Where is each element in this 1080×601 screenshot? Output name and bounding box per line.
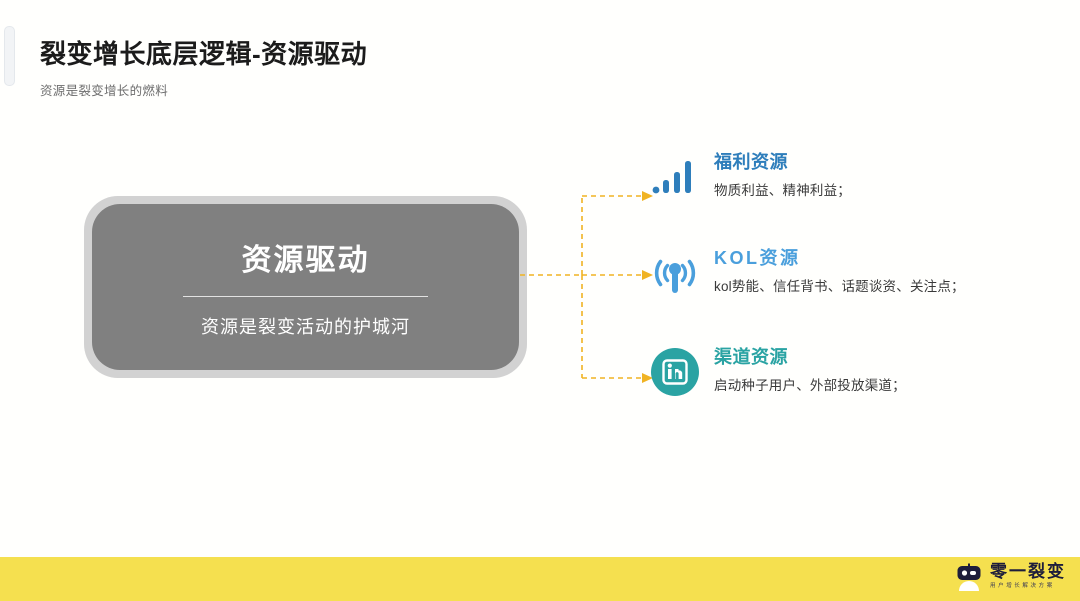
- list-item-text: 渠道资源 启动种子用户、外部投放渠道；: [702, 345, 906, 394]
- list-item-heading: KOL资源: [714, 247, 965, 270]
- robot-head-icon: [953, 561, 985, 593]
- slide-header: 裂变增长底层逻辑-资源驱动 资源是裂变增长的燃料: [40, 38, 740, 99]
- resource-driver-card: 资源驱动 资源是裂变活动的护城河: [84, 196, 527, 378]
- list-item-description: 启动种子用户、外部投放渠道；: [714, 374, 906, 394]
- page-edge-marker: [4, 26, 15, 86]
- list-item-text: 福利资源 物质利益、精神利益；: [702, 150, 851, 199]
- list-item-heading: 福利资源: [714, 151, 851, 174]
- list-item-text: KOL资源 kol势能、信任背书、话题谈资、关注点；: [702, 246, 965, 295]
- broadcast-antenna-icon: [648, 246, 702, 300]
- footer-bar: 零一裂变 用户增长解决方案: [0, 557, 1080, 601]
- brand-logo-text: 零一裂变 用户增长解决方案: [990, 563, 1066, 591]
- page-title: 裂变增长底层逻辑-资源驱动: [40, 38, 740, 71]
- resource-driver-card-body: 资源驱动 资源是裂变活动的护城河: [92, 204, 519, 370]
- brand-logo: 零一裂变 用户增长解决方案: [953, 561, 1066, 593]
- list-item-description: kol势能、信任背书、话题谈资、关注点；: [714, 275, 965, 295]
- list-item-heading: 渠道资源: [714, 346, 906, 369]
- signal-bars-icon: [648, 150, 702, 204]
- linkedin-icon: [648, 345, 702, 399]
- card-title: 资源驱动: [242, 235, 370, 279]
- page-subtitle: 资源是裂变增长的燃料: [40, 80, 740, 99]
- card-subtitle: 资源是裂变活动的护城河: [201, 313, 410, 339]
- list-item: KOL资源 kol势能、信任背书、话题谈资、关注点；: [648, 246, 1068, 300]
- slide-canvas: 裂变增长底层逻辑-资源驱动 资源是裂变增长的燃料 资源驱动 资源是裂变活动的护城…: [0, 0, 1080, 601]
- brand-tagline: 用户增长解决方案: [990, 583, 1066, 590]
- list-item-description: 物质利益、精神利益；: [714, 179, 851, 199]
- brand-name: 零一裂变: [990, 563, 1066, 581]
- card-divider: [183, 296, 428, 297]
- list-item: 福利资源 物质利益、精神利益；: [648, 150, 1068, 204]
- list-item: 渠道资源 启动种子用户、外部投放渠道；: [648, 345, 1068, 399]
